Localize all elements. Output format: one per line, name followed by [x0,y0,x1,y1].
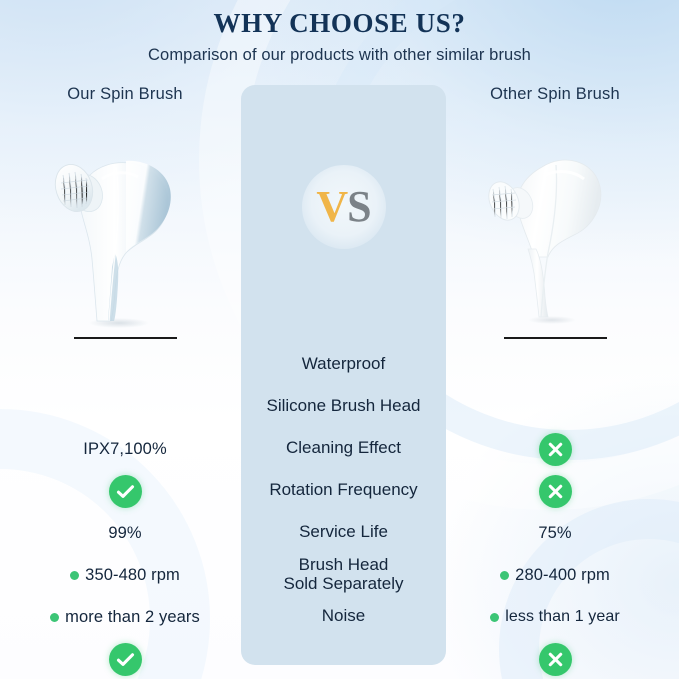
row-ours-cleaning-effect: 99% [16,512,234,554]
bullet-dot-icon [490,613,499,622]
row-ours-waterproof: IPX7,100% [16,428,234,470]
row-theirs-cleaning-effect: 75% [446,512,664,554]
comparison-infographic: WHY CHOOSE US? Comparison of our product… [0,0,679,679]
vs-badge: VS [302,165,386,249]
row-ours-rotation-frequency: 350-480 rpm [16,554,234,596]
bullet-ours-rotation-frequency: 350-480 rpm [70,566,180,585]
page-title: WHY CHOOSE US? [0,8,679,39]
check-circle-icon [109,643,142,676]
value-ours-waterproof: IPX7,100% [83,440,166,459]
other-spin-brush-illustration [446,131,664,331]
row-theirs-brush-head-sold-separately [446,638,664,679]
column-divider-ours [74,337,177,339]
value-ours-rotation-frequency: 350-480 rpm [85,566,180,585]
row-theirs-rotation-frequency: 280-400 rpm [446,554,664,596]
bullet-dot-icon [70,571,79,580]
value-ours-service-life: more than 2 years [65,608,200,627]
vs-label: VS [316,185,370,229]
our-spin-brush-illustration [16,131,234,331]
cross-circle-icon [539,475,572,508]
product-image-theirs [446,131,664,331]
label-silicone-brush-head: Silicone Brush Head [266,396,420,415]
feature-label-waterproof: Waterproof [241,343,446,385]
value-theirs-rotation-frequency: 280-400 rpm [515,566,610,585]
row-ours-brush-head-sold-separately [16,638,234,679]
column-title-theirs: Other Spin Brush [446,85,664,109]
feature-label-service-life: Service Life [241,511,446,553]
feature-label-rotation-frequency: Rotation Frequency [241,469,446,511]
feature-label-brush-head-sold-separately: Brush Head Sold Separately [241,553,446,595]
check-circle-icon [109,475,142,508]
label-brush-head-line1: Brush Head [299,555,389,574]
value-theirs-service-life: less than 1 year [505,608,620,626]
product-image-ours [16,131,234,331]
row-theirs-service-life: less than 1 year [446,596,664,638]
feature-label-silicone-brush-head: Silicone Brush Head [241,385,446,427]
value-theirs-cleaning-effect: 75% [538,524,571,543]
label-cleaning-effect: Cleaning Effect [286,438,401,457]
bullet-theirs-rotation-frequency: 280-400 rpm [500,566,610,585]
rows-theirs: 75% 280-400 rpm less than 1 year [446,428,664,679]
bullet-dot-icon [500,571,509,580]
row-theirs-silicone-brush-head [446,470,664,512]
cross-circle-icon [539,643,572,676]
rows-ours: IPX7,100% 99% 350-480 rpm [16,428,234,679]
page-subtitle: Comparison of our products with other si… [0,46,679,65]
bullet-dot-icon [50,613,59,622]
vs-letter-s: S [347,182,370,231]
column-ours: Our Spin Brush [16,85,234,339]
column-theirs: Other Spin Brush [446,85,664,339]
row-ours-silicone-brush-head [16,470,234,512]
label-service-life: Service Life [299,522,388,541]
row-theirs-waterproof [446,428,664,470]
label-brush-head-line2: Sold Separately [283,574,403,593]
feature-label-noise: Noise [241,595,446,637]
feature-label-cleaning-effect: Cleaning Effect [241,427,446,469]
column-divider-theirs [504,337,607,339]
label-noise: Noise [322,606,365,625]
feature-labels: Waterproof Silicone Brush Head Cleaning … [241,343,446,637]
column-title-ours: Our Spin Brush [16,85,234,109]
header: WHY CHOOSE US? Comparison of our product… [0,8,679,65]
row-ours-service-life: more than 2 years [16,596,234,638]
vs-letter-v: V [316,182,347,231]
label-rotation-frequency: Rotation Frequency [269,480,417,499]
value-ours-cleaning-effect: 99% [108,524,141,543]
cross-circle-icon [539,433,572,466]
label-waterproof: Waterproof [302,354,385,373]
bullet-theirs-service-life: less than 1 year [490,608,620,626]
bullet-ours-service-life: more than 2 years [50,608,200,627]
